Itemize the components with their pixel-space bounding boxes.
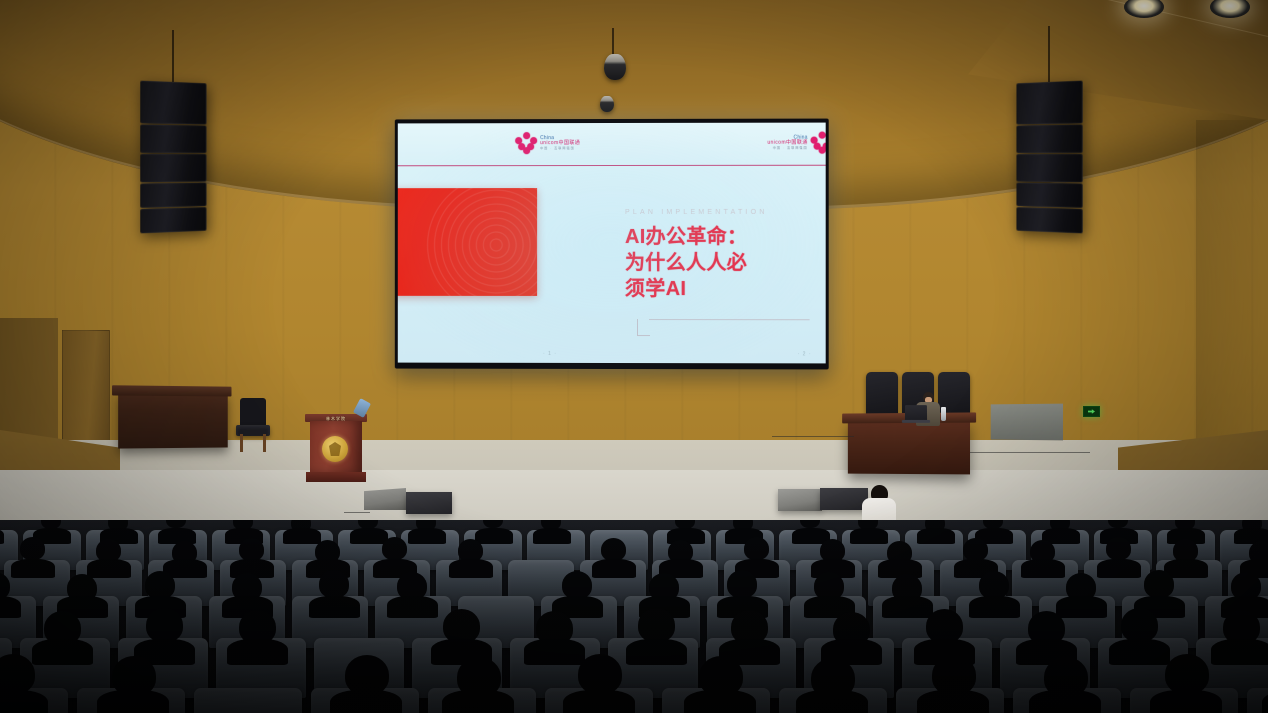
audience-member-silhouette	[800, 520, 820, 528]
audience-seat	[545, 688, 653, 713]
lectern-podium: 林木学院	[308, 414, 364, 482]
slide-red-panel: 百业及 探讨	[398, 188, 537, 296]
side-desk-left	[118, 391, 228, 448]
projected-slide: China unicom中国联通 中国 · 互联网强国 China unicom…	[398, 123, 826, 364]
line-array-speaker-right	[1016, 81, 1082, 234]
audience-seat	[1247, 688, 1268, 713]
audience-member-shoulders	[1211, 639, 1268, 665]
stage-monitor-speaker	[820, 488, 868, 510]
audience-member-silhouette	[1106, 537, 1131, 560]
ceiling-camera-icon	[604, 54, 626, 80]
unicom-knot-icon	[811, 132, 826, 154]
audience-member-shoulders	[850, 528, 887, 544]
stage-cable	[970, 452, 1090, 453]
audience-member-shoulders	[387, 596, 438, 618]
audience-member-shoulders	[917, 690, 988, 713]
audience-member-shoulders	[626, 639, 687, 665]
audience-member-shoulders	[524, 639, 585, 665]
audience-seat	[194, 688, 302, 713]
audience-member-shoulders	[0, 596, 21, 618]
slide-headline-line1: AI办公革命：	[625, 224, 816, 250]
china-unicom-logo: China unicom中国联通 中国 · 互联网强国	[515, 132, 580, 154]
audience-member-silhouette	[578, 654, 622, 694]
projection-screen: China unicom中国联通 中国 · 互联网强国 China unicom…	[395, 119, 829, 370]
logo-subtitle: 中国 · 互联网强国	[540, 147, 580, 150]
stage-monitor-speaker	[778, 489, 822, 511]
stage-door-left[interactable]	[62, 330, 110, 450]
red-panel-line1: 百业及	[398, 200, 478, 233]
audience-member-silhouette	[1165, 654, 1209, 694]
audience-member-shoulders	[1056, 596, 1107, 618]
audience-member-shoulders	[1109, 639, 1170, 665]
audience-member-silhouette	[345, 655, 389, 695]
stage-cable	[344, 512, 370, 513]
audience-member-silhouette	[744, 537, 769, 560]
audience-member-silhouette	[601, 538, 626, 561]
audience-member-shoulders	[882, 596, 933, 618]
unicom-knot-icon	[515, 132, 537, 154]
audience-seat	[896, 688, 1004, 713]
stage-monitor-speaker	[406, 492, 452, 514]
audience-member-shoulders	[32, 639, 93, 665]
ceiling-camera-icon	[600, 96, 614, 112]
laptop-icon	[905, 405, 927, 421]
slide-page-marker-left: · 1 ·	[543, 351, 557, 357]
audience-member-shoulders	[969, 596, 1020, 618]
stage-monitor-speaker	[364, 488, 406, 510]
audience-seat	[311, 688, 419, 713]
side-table-right	[991, 404, 1063, 441]
audience-member-shoulders	[533, 528, 570, 544]
headline-underline	[649, 319, 810, 320]
water-bottle-icon	[941, 407, 946, 421]
audience-member-shoulders	[0, 690, 48, 713]
audience-member-silhouette	[146, 608, 183, 642]
audience-member-shoulders	[1150, 690, 1221, 713]
audience-seat	[1130, 688, 1238, 713]
audience-member-silhouette	[979, 571, 1009, 599]
exit-sign-icon	[1083, 406, 1100, 417]
slide-page-marker-right: · 2 ·	[798, 351, 812, 357]
institution-crest-icon	[322, 436, 348, 462]
audience-member-shoulders	[1021, 559, 1065, 578]
audience-member-shoulders	[1097, 559, 1141, 578]
audience-seat	[779, 688, 887, 713]
audience-member-silhouette	[145, 571, 175, 599]
stage-cable	[772, 436, 854, 437]
audience-member-shoulders	[350, 528, 387, 544]
logo-subtitle: 中国 · 互联网强国	[773, 147, 808, 150]
audience-member-shoulders	[449, 559, 493, 578]
audience-member-silhouette	[20, 537, 45, 560]
audience-member-silhouette	[727, 570, 757, 598]
audience-member-silhouette	[166, 520, 186, 528]
left-wall-panel	[0, 318, 58, 450]
audience-member-silhouette	[239, 538, 264, 561]
audience-member-shoulders	[1262, 690, 1268, 713]
audience-seat	[428, 688, 536, 713]
audience-member-shoulders	[408, 528, 445, 544]
audience-member-shoulders	[684, 690, 755, 713]
audience-seat	[0, 688, 68, 713]
slide-eyebrow: PLAN IMPLEMENTATION	[625, 209, 816, 216]
audience-member-silhouette	[1121, 608, 1158, 642]
audience-member-shoulders	[917, 528, 954, 544]
audience-member-shoulders	[1029, 690, 1100, 713]
presenter-desk	[848, 420, 970, 475]
audience-member-silhouette	[963, 538, 988, 561]
audience-member-silhouette	[932, 655, 976, 695]
audience-member-silhouette	[483, 520, 503, 528]
slide-headline-line2: 为什么人人必	[625, 250, 816, 276]
speaker-hang-rod	[1048, 26, 1050, 82]
audience-member-shoulders	[0, 528, 4, 544]
china-unicom-logo-secondary: China unicom中国联通 中国 · 互联网强国	[767, 132, 825, 154]
audience-member-silhouette	[638, 608, 675, 642]
audience-member-shoulders	[442, 690, 513, 713]
audience-member-shoulders	[475, 528, 512, 544]
audience-member-shoulders	[309, 596, 360, 618]
audience-member-shoulders	[330, 690, 401, 713]
audience-member-shoulders	[87, 559, 131, 578]
headline-corner-tick	[637, 319, 650, 336]
audience-member-shoulders	[11, 559, 55, 578]
slide-headline-block: PLAN IMPLEMENTATION AI办公革命： 为什么人人必 须学AI	[625, 209, 816, 302]
audience-member-shoulders	[563, 690, 634, 713]
audience-member-silhouette	[443, 609, 480, 643]
audience-member-silhouette	[562, 571, 592, 599]
chair-left	[236, 398, 270, 452]
auditorium-scene: China unicom中国联通 中国 · 互联网强国 China unicom…	[0, 0, 1268, 713]
slide-headline-line3: 须学AI	[625, 276, 816, 302]
speaker-hang-rod	[172, 30, 174, 82]
right-wall-shadow	[1196, 120, 1268, 450]
audience-member-silhouette	[319, 570, 349, 598]
audience-seat	[1013, 688, 1121, 713]
audience-member-shoulders	[796, 690, 867, 713]
camera-mount-rod	[612, 28, 614, 56]
audience-member-silhouette	[382, 537, 407, 560]
audience-member-shoulders	[227, 639, 288, 665]
red-panel-line2: 探讨	[398, 234, 478, 266]
audience-member-shoulders	[97, 690, 168, 713]
slide-header-bar	[398, 123, 826, 167]
audience-seating	[0, 520, 1268, 713]
audience-member-silhouette	[1108, 520, 1128, 528]
audience-row	[0, 688, 1268, 713]
line-array-speaker-left	[140, 81, 206, 234]
audience-seat	[77, 688, 185, 713]
audience-member-silhouette	[926, 609, 963, 643]
audience-seat	[662, 688, 770, 713]
audience-member-shoulders	[283, 528, 320, 544]
audience-member-shoulders	[592, 559, 636, 578]
audience-member-silhouette	[1144, 570, 1174, 598]
